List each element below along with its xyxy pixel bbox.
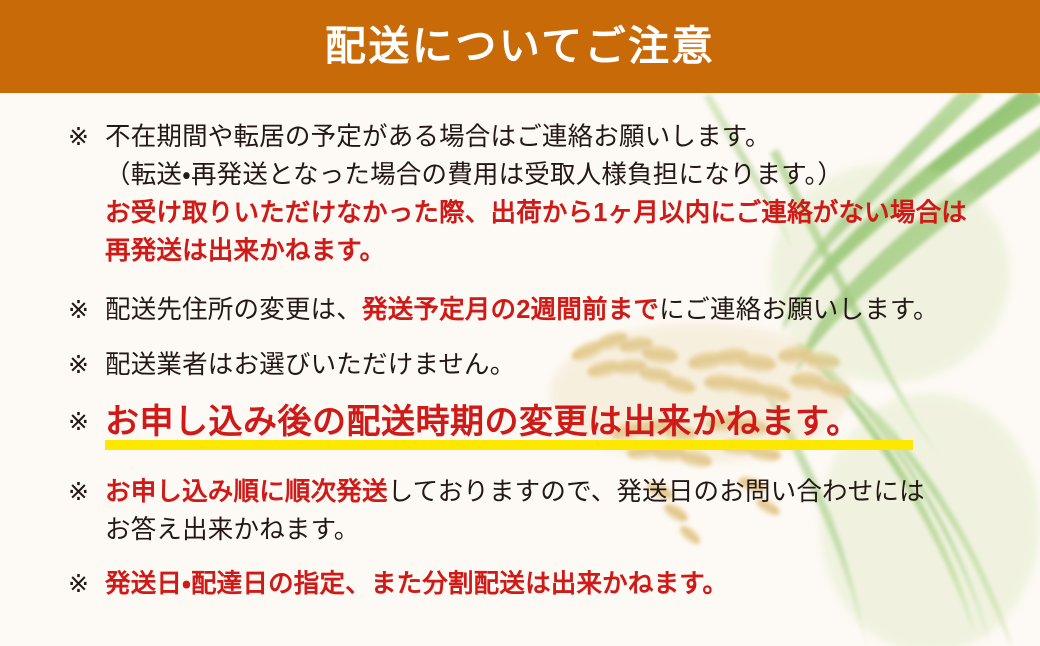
notice-segment: しておりますので、発送日のお問い合わせには [388, 478, 925, 506]
notice-line: 配送先住所の変更は、発送予定月の2週間前までにご連絡お願いします。 [105, 291, 939, 329]
notice-text-block: 不在期間や転居の予定がある場合はご連絡お願いします。 （転送・再発送となった場合… [105, 118, 967, 270]
shipping-notice-card: 配送についてご注意 [0, 0, 1040, 646]
notice-item-address-change: ※ 不在期間や転居の予定がある場合はご連絡お願いします。 （転送・再発送となった… [68, 118, 967, 270]
notice-marker-icon: ※ [68, 346, 105, 384]
notice-line: お受け取りいただけなかった際、出荷から1ヶ月以内にご連絡がない場合は [105, 194, 967, 232]
notice-line: お申し込み後の配送時期の変更は出来かねます。 [105, 399, 861, 445]
notice-segment: 配送業者はお選びいただけません。 [105, 351, 515, 379]
notice-line: （転送・再発送となった場合の費用は受取人様負担になります。） [105, 156, 967, 194]
notice-segment-emphasis: お申し込み後の配送時期の変更は出来かねます。 [105, 403, 861, 441]
notice-segment: お答え出来かねます。 [105, 516, 359, 544]
notice-line: 再発送は出来かねます。 [105, 232, 967, 270]
notice-line: 配送業者はお選びいただけません。 [105, 346, 515, 384]
notice-line: 発送日・配達日の指定、また分割配送は出来かねます。 [105, 565, 728, 603]
notice-text-block: 発送日・配達日の指定、また分割配送は出来かねます。 [105, 565, 728, 603]
notice-line: お答え出来かねます。 [105, 511, 925, 549]
notice-marker-icon: ※ [68, 473, 105, 511]
notice-line: 不在期間や転居の予定がある場合はご連絡お願いします。 [105, 118, 967, 156]
notice-header-banner: 配送についてご注意 [0, 0, 1040, 93]
notice-text-block: お申し込み順に順次発送しておりますので、発送日のお問い合わせには お答え出来かね… [105, 473, 925, 549]
notice-segment-emphasis: 発送日・配達日の指定、また分割配送は出来かねます。 [105, 570, 728, 598]
notice-marker-icon: ※ [68, 565, 105, 603]
notice-marker-icon: ※ [68, 118, 105, 156]
notice-item-carrier: ※ 配送業者はお選びいただけません。 [68, 346, 515, 384]
notice-text-block: 配送先住所の変更は、発送予定月の2週間前までにご連絡お願いします。 [105, 291, 939, 329]
notice-item-no-date-designation: ※ 発送日・配達日の指定、また分割配送は出来かねます。 [68, 565, 728, 603]
notice-segment: 不在期間や転居の予定がある場合はご連絡お願いします。 [105, 123, 771, 151]
notice-marker-icon: ※ [68, 291, 105, 329]
notice-segment-emphasis: 発送予定月の2週間前まで [362, 296, 659, 324]
notice-text-block: 配送業者はお選びいただけません。 [105, 346, 515, 384]
page-title: 配送についてご注意 [325, 26, 715, 67]
notice-segment: にご連絡お願いします。 [659, 296, 939, 324]
notice-line: お申し込み順に順次発送しておりますので、発送日のお問い合わせには [105, 473, 925, 511]
notice-segment-emphasis: お受け取りいただけなかった際、出荷から1ヶ月以内にご連絡がない場合は [105, 199, 967, 227]
notice-segment: （転送・再発送となった場合の費用は受取人様負担になります。） [105, 161, 843, 189]
notice-segment-emphasis: お申し込み順に順次発送 [105, 478, 388, 506]
notice-segment-emphasis: 再発送は出来かねます。 [105, 237, 385, 265]
notice-marker-icon: ※ [68, 399, 105, 445]
notice-list: ※ 不在期間や転居の予定がある場合はご連絡お願いします。 （転送・再発送となった… [0, 93, 1040, 646]
notice-segment: 配送先住所の変更は、 [105, 296, 362, 324]
notice-item-no-schedule-change: ※ お申し込み後の配送時期の変更は出来かねます。 [68, 399, 861, 445]
notice-item-ship-month-change: ※ 配送先住所の変更は、発送予定月の2週間前までにご連絡お願いします。 [68, 291, 939, 329]
notice-text-block: お申し込み後の配送時期の変更は出来かねます。 [105, 399, 861, 445]
notice-item-order-sequence: ※ お申し込み順に順次発送しておりますので、発送日のお問い合わせには お答え出来… [68, 473, 925, 549]
